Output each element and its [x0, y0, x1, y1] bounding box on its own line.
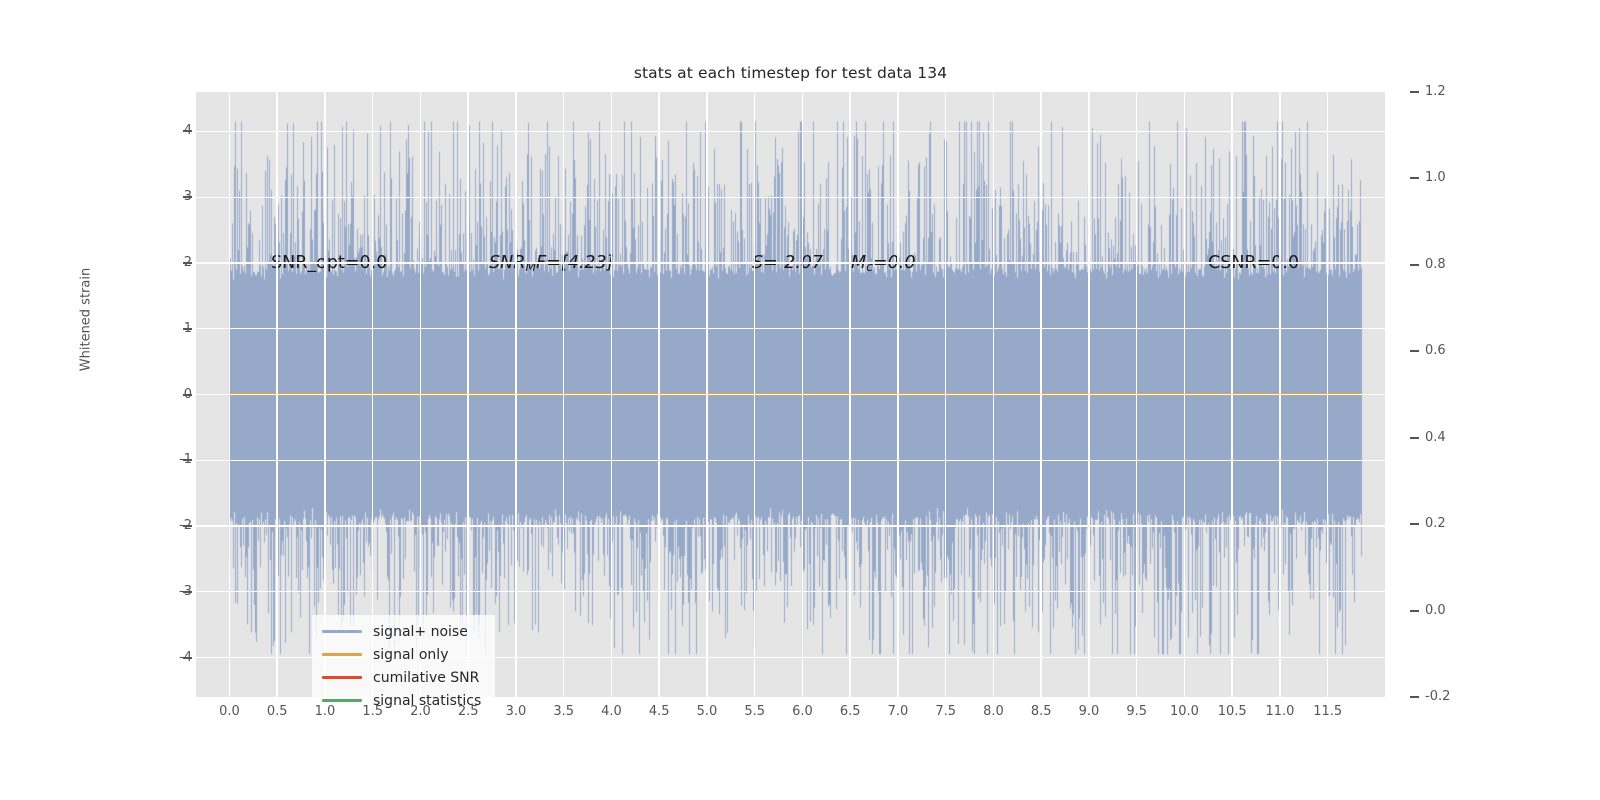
y-tick-label-right: 0.8: [1425, 257, 1446, 272]
annotation-mc: Mc=0.0: [851, 255, 915, 274]
legend-item[interactable]: signal+ noise: [322, 624, 481, 639]
y-tick-mark-left: [183, 657, 192, 659]
annotation-snr-mf: SNRMF=[4.23]: [489, 255, 614, 274]
x-tick-label: 6.0: [792, 704, 813, 719]
y-tick-mark-left: [183, 591, 192, 593]
x-tick-label: 7.5: [935, 704, 956, 719]
y-tick-mark-right: [1410, 91, 1419, 93]
plot-axes: SNR_opt=0.0 SNRMF=[4.23] S=-2.07 Mc=0.0 …: [196, 92, 1385, 697]
figure-canvas: stats at each timestep for test data 134…: [0, 0, 1600, 800]
gridline-horizontal: [196, 460, 1385, 461]
x-tick-label: 10.5: [1218, 704, 1247, 719]
legend-swatch-cumulative-snr: [322, 676, 362, 679]
x-tick-label: 8.5: [1031, 704, 1052, 719]
x-tick-label: 11.5: [1313, 704, 1342, 719]
y-tick-mark-right: [1410, 610, 1419, 612]
y-tick-mark-left: [183, 196, 192, 198]
y-tick-mark-right: [1410, 523, 1419, 525]
legend-item[interactable]: cumilative SNR: [322, 670, 481, 685]
x-tick-label: 11.0: [1265, 704, 1294, 719]
gridline-horizontal: [196, 262, 1385, 263]
annotation-snr-opt: SNR_opt=0.0: [271, 255, 387, 273]
chart-legend: signal+ noise signal only cumilative SNR…: [312, 615, 495, 717]
x-tick-label: 5.0: [697, 704, 718, 719]
gridline-horizontal: [196, 197, 1385, 198]
y-tick-mark-left: [183, 525, 192, 527]
x-tick-label: 1.5: [362, 704, 383, 719]
x-tick-label: 3.0: [506, 704, 527, 719]
legend-label: cumilative SNR: [373, 670, 479, 686]
x-tick-label: 8.0: [983, 704, 1004, 719]
y-tick-mark-left: [183, 459, 192, 461]
x-tick-label: 2.0: [410, 704, 431, 719]
legend-label: signal+ noise: [373, 624, 468, 640]
y-tick-label-right: 1.0: [1425, 170, 1446, 185]
y-tick-mark-right: [1410, 696, 1419, 698]
gridline-horizontal: [196, 394, 1385, 395]
legend-swatch-signal-only: [322, 653, 362, 656]
x-tick-label: 9.0: [1079, 704, 1100, 719]
y-tick-label-right: 1.2: [1425, 84, 1446, 99]
gridline-horizontal: [196, 591, 1385, 592]
y-tick-mark-right: [1410, 264, 1419, 266]
x-tick-label: 4.0: [601, 704, 622, 719]
y-tick-mark-left: [183, 394, 192, 396]
x-tick-label: 7.0: [888, 704, 909, 719]
gridline-horizontal: [196, 328, 1385, 329]
y-tick-mark-right: [1410, 437, 1419, 439]
x-tick-label: 2.5: [458, 704, 479, 719]
y-tick-label-right: 0.4: [1425, 430, 1446, 445]
annotation-snr-mf-subscript: M: [525, 259, 536, 274]
legend-label: signal only: [373, 647, 448, 663]
annotation-mc-subscript: c: [866, 259, 873, 274]
annotation-csnr: CSNR=0.0: [1208, 255, 1299, 273]
y-tick-mark-left: [183, 130, 192, 132]
legend-item[interactable]: signal only: [322, 647, 481, 662]
chart-title: stats at each timestep for test data 134: [196, 64, 1385, 82]
gridline-horizontal: [196, 131, 1385, 132]
legend-swatch-signal-noise: [322, 630, 362, 633]
y-tick-mark-right: [1410, 350, 1419, 352]
y-tick-mark-left: [183, 328, 192, 330]
x-tick-label: 0.0: [219, 704, 240, 719]
y-axis-left-label: Whitened strain: [79, 220, 94, 420]
gridline-horizontal: [196, 525, 1385, 526]
x-tick-label: 0.5: [267, 704, 288, 719]
x-tick-label: 3.5: [553, 704, 574, 719]
y-tick-label-right: 0.0: [1425, 603, 1446, 618]
legend-swatch-signal-statistics: [322, 699, 362, 702]
y-tick-mark-right: [1410, 177, 1419, 179]
annotation-s-stat: S=-2.07: [752, 255, 823, 273]
y-tick-mark-left: [183, 262, 192, 264]
x-tick-label: 6.5: [840, 704, 861, 719]
x-tick-label: 9.5: [1126, 704, 1147, 719]
x-tick-label: 4.5: [649, 704, 670, 719]
y-tick-label-right: 0.6: [1425, 343, 1446, 358]
y-tick-label-right: 0.2: [1425, 516, 1446, 531]
x-tick-label: 10.0: [1170, 704, 1199, 719]
x-tick-label: 1.0: [315, 704, 336, 719]
x-tick-label: 5.5: [744, 704, 765, 719]
y-tick-label-right: -0.2: [1425, 689, 1450, 704]
